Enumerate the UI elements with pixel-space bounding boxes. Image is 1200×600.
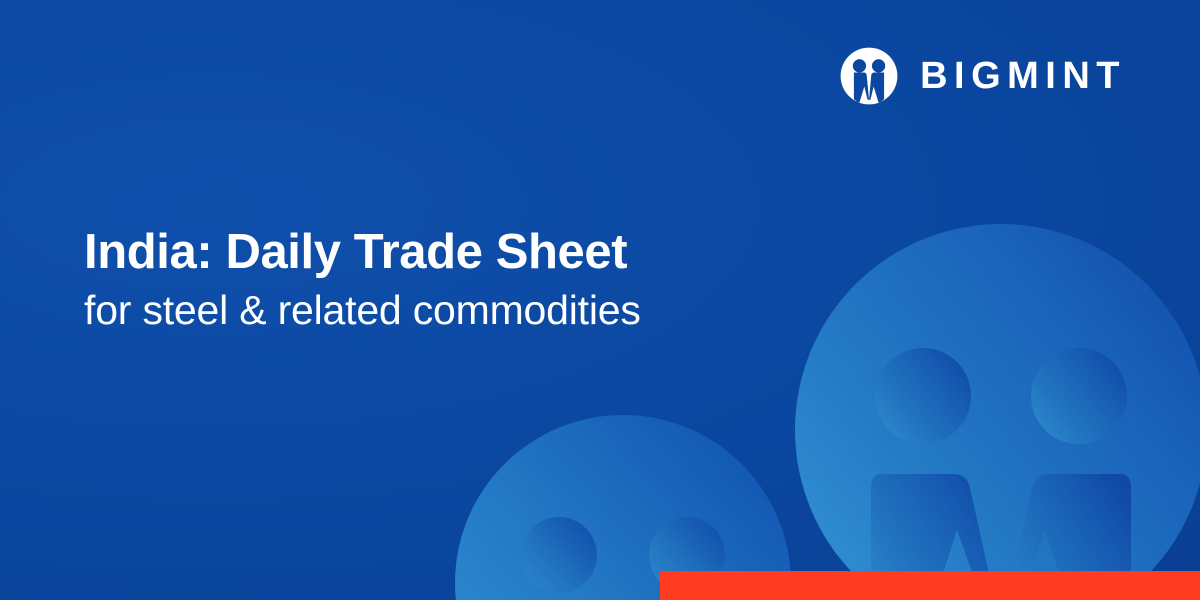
watermark-small-head-left: [521, 517, 597, 593]
watermark-large-disc: [795, 224, 1200, 600]
watermark-large-head-right: [1031, 348, 1127, 444]
brand-wordmark: BIGMINT: [920, 57, 1126, 95]
page-subtitle: for steel & related commodities: [84, 286, 784, 334]
red-accent-bar: [660, 571, 1200, 600]
page-title: India: Daily Trade Sheet: [84, 226, 784, 280]
watermark-large-head-left: [875, 348, 971, 444]
watermark-large-logo-circle: [795, 224, 1200, 600]
headline-block: India: Daily Trade Sheet for steel & rel…: [84, 226, 784, 334]
brand-logo: BIGMINT: [840, 47, 1126, 105]
banner-canvas: BIGMINT India: Daily Trade Sheet for ste…: [0, 0, 1200, 600]
bigmint-people-circle-icon: [840, 47, 898, 105]
